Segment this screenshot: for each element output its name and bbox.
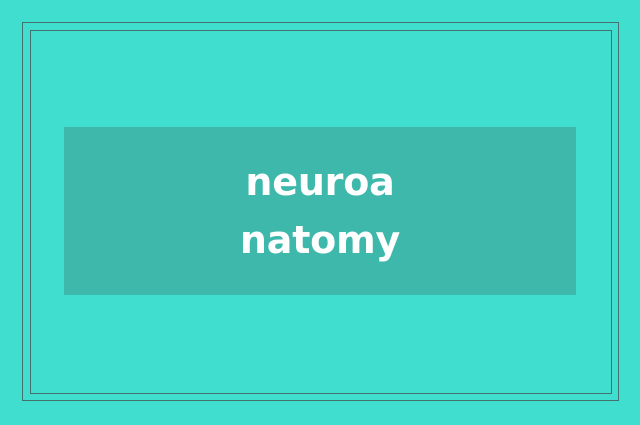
title-panel: neuroa natomy — [64, 127, 576, 295]
title-line-2: natomy — [64, 211, 576, 269]
title-line-1: neuroa — [64, 153, 576, 211]
slide-canvas: neuroa natomy — [0, 0, 640, 425]
